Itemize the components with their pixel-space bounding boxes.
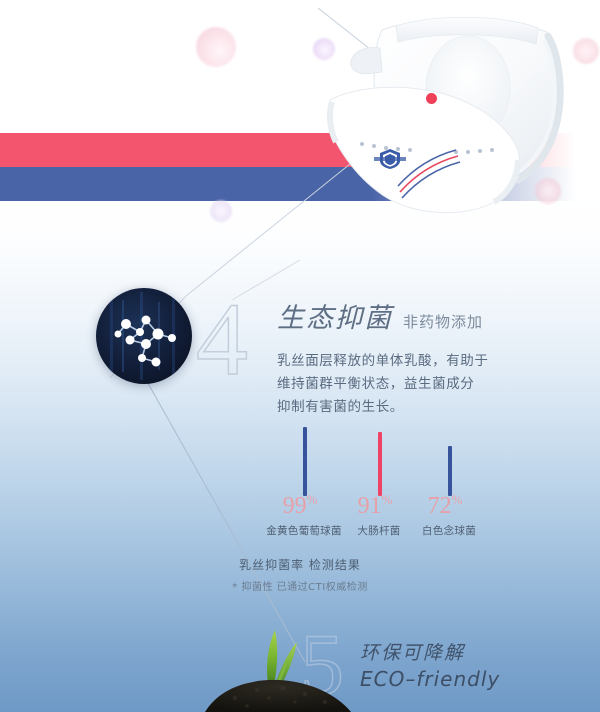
chart-value-number: 72 [428,493,452,519]
section4-headline: 生态抑菌 非药物添加 [277,296,483,335]
body-line: 抑制有害菌的生长。 [277,396,577,419]
chart-bar-column [273,427,337,496]
product-image-diaper [322,0,600,228]
chart-value-number: 99 [283,493,307,519]
section5-headline: 环保可降解 ECO–friendly [360,640,500,692]
molecule-icon [96,288,192,384]
brand-logo [372,148,408,170]
product-marker-dot [426,93,437,104]
chart-note: * 抑菌性 已通过CTI权威检测 [0,578,600,593]
chart-value-label: 72% [413,493,477,518]
body-line: 乳丝面层释放的单体乳酸，有助于 [277,350,577,373]
chart-title: 乳丝抑菌率 检测结果 [0,556,600,573]
section-numeral-4: 4 [196,288,248,392]
chart-bar-column [418,446,482,496]
chart-bar [448,446,452,496]
section5-heading-cn: 环保可降解 [360,640,500,666]
chart-bar [303,427,307,496]
chart-value-unit: % [307,492,318,507]
chart-category-label: 白色念球菌 [404,523,494,538]
sprout-image [205,628,355,712]
section4-subheading: 非药物添加 [403,311,483,332]
chart-bar-column [348,432,412,496]
product-infographic-page: 4 生态抑菌 非药物添加 乳丝面层释放的单体乳酸，有助于 维持菌群平衡状态，益生… [0,0,600,712]
chart-value-unit: % [382,492,393,507]
antibacterial-bar-chart: 99% 金黄色葡萄球菌 91% 大肠杆菌 72% 白色念球菌 [270,425,520,540]
chart-value-number: 91 [358,493,382,519]
chart-value-label: 99% [268,493,332,518]
chart-value-unit: % [452,492,463,507]
chart-value-label: 91% [343,493,407,518]
body-line: 维持菌群平衡状态，益生菌成分 [277,373,577,396]
chart-bar [378,432,382,496]
section5-heading-en: ECO–friendly [360,666,500,692]
section4-heading: 生态抑菌 [277,296,393,335]
section4-body: 乳丝面层释放的单体乳酸，有助于 维持菌群平衡状态，益生菌成分 抑制有害菌的生长。 [277,350,577,419]
